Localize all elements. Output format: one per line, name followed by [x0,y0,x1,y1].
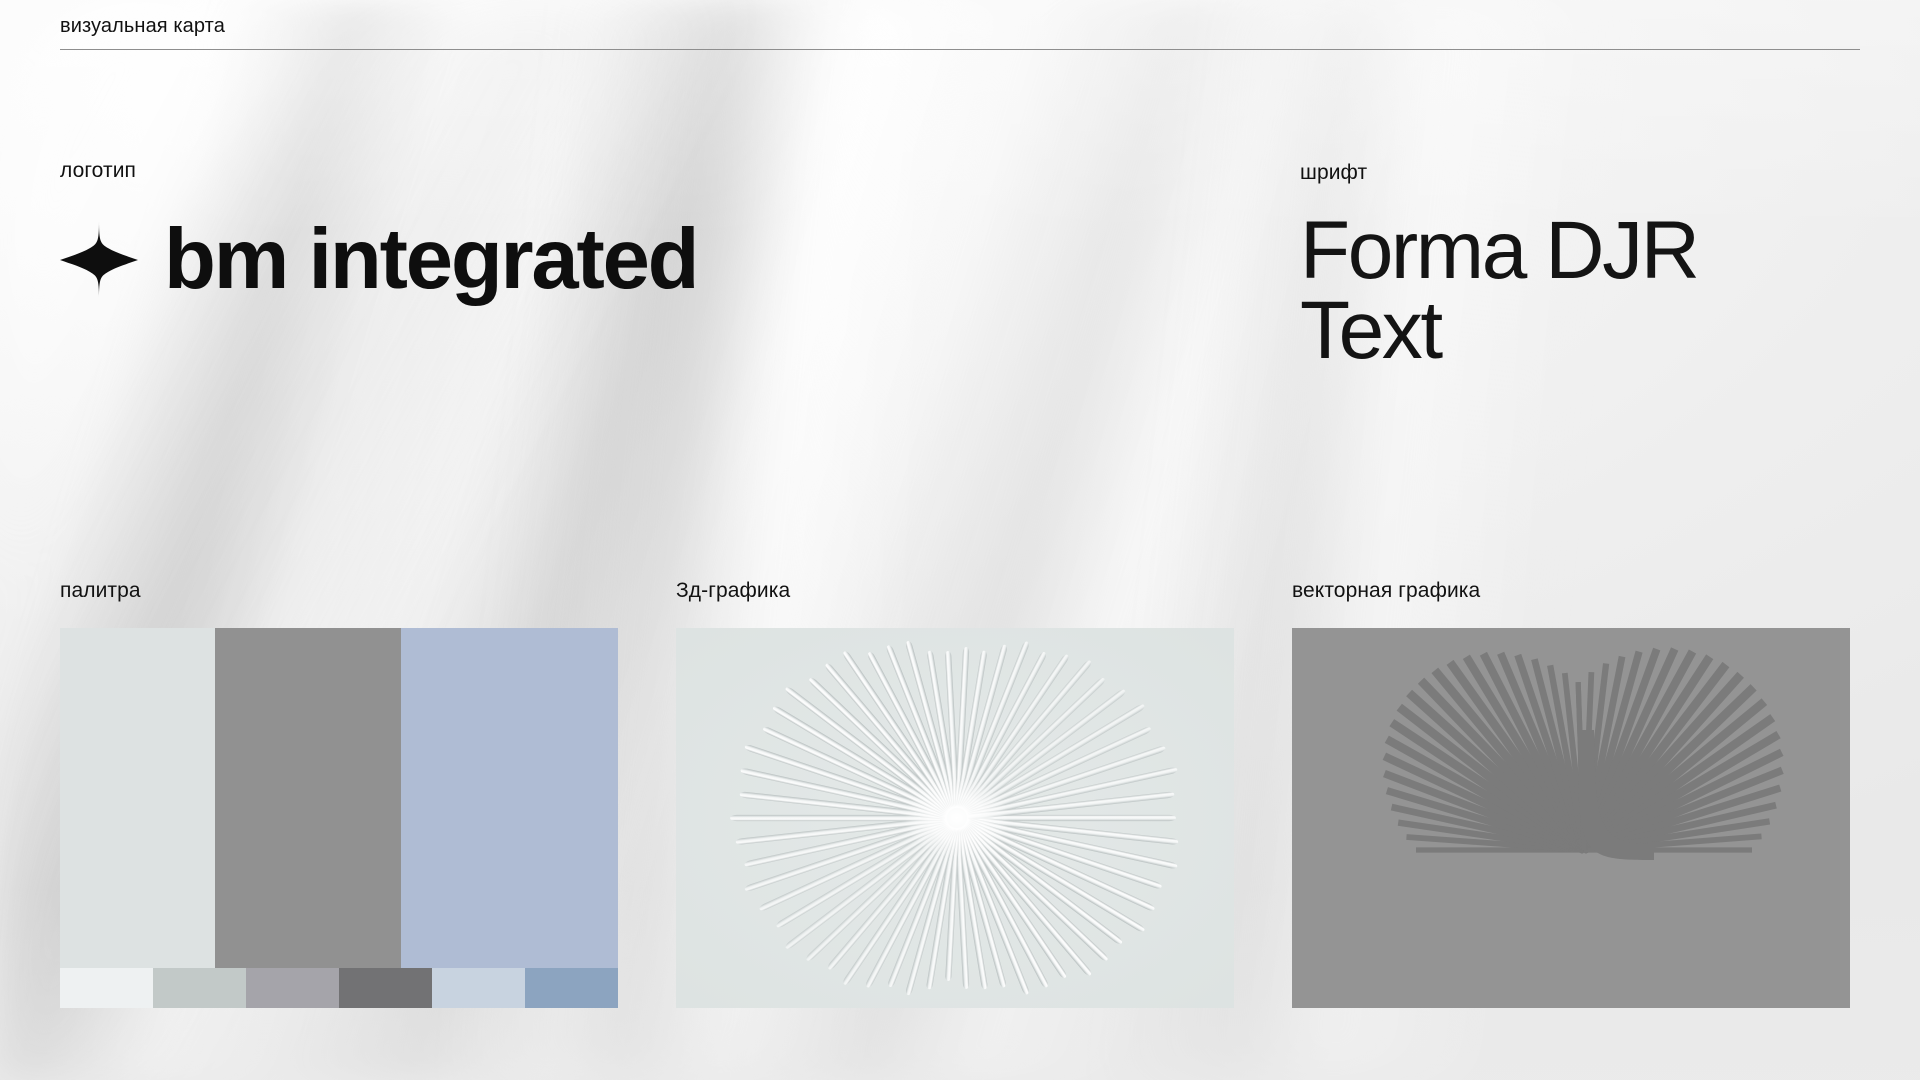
palette-swatch-mid-grey [215,628,401,968]
graphic-3d-section-label: Зд-графика [676,578,1234,603]
palette-accent-dark-grey [339,968,432,1008]
board-header: визуальная карта [60,14,1860,50]
pinwheel-fan-vector-illustration [1292,628,1850,1008]
graphic-vector-section: векторная графика [1292,578,1850,1008]
board-content: визуальная карта логотип bm integrated ш… [0,0,1920,1080]
panel-row-wrapper: палитра [60,578,1860,1008]
logo-wordmark: bm integrated [164,217,697,302]
visual-identity-board: визуальная карта логотип bm integrated ш… [0,0,1920,1080]
palette-swatch-periwinkle [401,628,618,968]
logo-section-label: логотип [60,158,697,183]
palette-accent-near-white [60,968,153,1008]
palette-swatch-pale-mist [60,628,215,968]
header-divider [60,49,1860,50]
graphic-vector-figure [1292,628,1850,1008]
four-point-sparkle-icon [60,221,138,299]
typeface-section-label: шрифт [1300,160,1698,185]
palette-accent-steel-blue [525,968,618,1008]
typeface-specimen: Forma DJR Text [1300,211,1698,370]
palette-accent-sage-grey [153,968,246,1008]
typeface-name-line-2: Text [1300,291,1698,371]
typeface-section: шрифт Forma DJR Text [1300,160,1698,370]
palette-figure [60,628,618,1008]
graphic-3d-figure [676,628,1234,1008]
radial-burst-3d-illustration [676,628,1234,1008]
graphic-vector-section-label: векторная графика [1292,578,1850,603]
palette-accent-row [60,968,618,1008]
graphic-3d-section: Зд-графика [676,578,1234,1008]
page-title: визуальная карта [60,14,1860,38]
typeface-name-line-1: Forma DJR [1300,211,1698,291]
palette-accent-pale-blue [432,968,525,1008]
palette-section: палитра [60,578,618,1008]
panel-row: палитра [60,578,1860,1008]
logo-lockup: bm integrated [60,217,697,302]
palette-main-columns [60,628,618,968]
palette-accent-warm-grey [246,968,339,1008]
logo-section: логотип bm integrated [60,158,697,302]
palette-section-label: палитра [60,578,618,603]
